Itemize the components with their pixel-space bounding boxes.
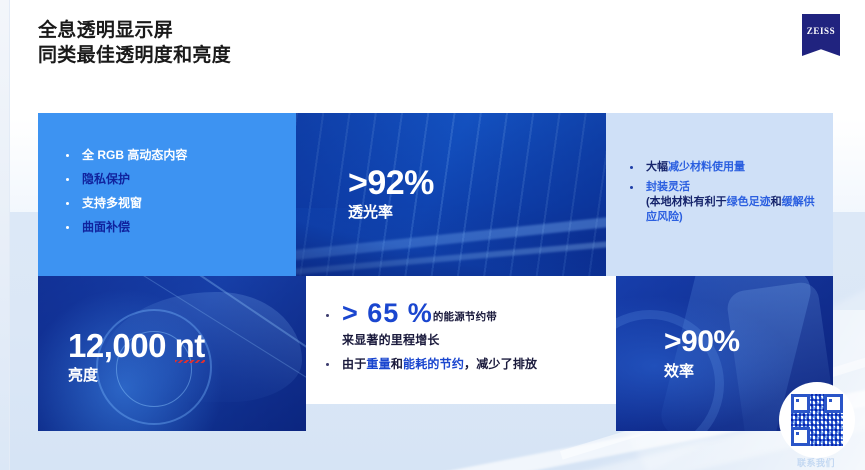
panel-brightness: 12,000 nt 亮度 <box>38 276 306 431</box>
list-item: 全 RGB 高动态内容 <box>64 147 187 163</box>
material-b2-note-b: 绿色足迹 <box>727 196 771 208</box>
qr-finder-icon <box>791 394 810 413</box>
energy-l3-c: 和 <box>391 357 403 371</box>
stat-value-number: 12,000 <box>68 327 175 364</box>
title-line-1: 全息透明显示屏 <box>38 18 231 43</box>
stat-transmission: >92% 透光率 <box>348 165 434 223</box>
energy-bullet-1: > 65 %的能源节约带 来显著的里程增长 <box>320 298 602 348</box>
energy-big-suffix: 的能源节约带 <box>433 311 497 323</box>
list-item: 支持多视窗 <box>64 195 187 211</box>
stat-efficiency: >90% 效率 <box>664 324 740 382</box>
panel-transmission: >92% 透光率 <box>296 113 606 276</box>
material-b1-blue: 减少材料使用量 <box>668 161 745 173</box>
features-bullet-list: 全 RGB 高动态内容 隐私保护 支持多视窗 曲面补偿 <box>64 147 187 243</box>
energy-big-value: > 65 % <box>342 298 433 329</box>
zeiss-logo-shape: ZEISS <box>802 14 840 56</box>
energy-line-2: 来显著的里程增长 <box>342 331 602 348</box>
qr-code-badge[interactable] <box>779 382 855 458</box>
photo-streak <box>296 208 606 262</box>
energy-bullet-2: 由于重量和能耗的节约，减少了排放 <box>320 355 602 372</box>
slide: 全息透明显示屏 同类最佳透明度和亮度 ZEISS 全 RGB 高动态内容 隐私保… <box>0 0 865 470</box>
stat-label: 效率 <box>664 362 740 382</box>
material-b2-note-a: (本地材料有利于 <box>646 196 727 208</box>
list-item: 封装灵活 (本地材料有利于绿色足迹和缓解供应风险) <box>628 180 823 225</box>
photo-streak <box>296 232 606 276</box>
list-item: 大幅减少材料使用量 <box>628 160 823 175</box>
panel-material: 大幅减少材料使用量 封装灵活 (本地材料有利于绿色足迹和缓解供应风险) <box>606 113 833 276</box>
list-item: 隐私保护 <box>64 171 187 187</box>
stat-value: 12,000 nt <box>68 328 205 364</box>
stat-label: 透光率 <box>348 203 434 223</box>
page-title: 全息透明显示屏 同类最佳透明度和亮度 <box>38 18 231 68</box>
energy-l3-d: 能耗的节约 <box>403 357 464 371</box>
material-b2-title: 封装灵活 <box>646 181 690 193</box>
stat-value-unit: nt <box>175 327 205 364</box>
qr-finder-icon <box>791 427 810 446</box>
energy-l3-a: 由于 <box>342 357 366 371</box>
background-left-strip <box>0 0 10 470</box>
qr-code-label: 联系我们 <box>781 456 851 469</box>
material-b2-note-c: 和 <box>771 196 782 208</box>
title-line-2: 同类最佳透明度和亮度 <box>38 43 231 68</box>
stat-brightness: 12,000 nt 亮度 <box>68 328 205 386</box>
material-b1-dark: 大幅 <box>646 161 668 173</box>
panel-energy: > 65 %的能源节约带 来显著的里程增长 由于重量和能耗的节约，减少了排放 <box>306 276 616 404</box>
energy-line-3: 由于重量和能耗的节约，减少了排放 <box>342 355 602 372</box>
bridge-photo-background <box>296 113 606 276</box>
zeiss-logo: ZEISS <box>802 14 840 56</box>
stat-value: >92% <box>348 165 434 201</box>
panel-features: 全 RGB 高动态内容 隐私保护 支持多视窗 曲面补偿 <box>38 113 296 276</box>
qr-finder-icon <box>824 394 843 413</box>
energy-l3-e: ，减少了排放 <box>464 357 537 371</box>
energy-content: > 65 %的能源节约带 来显著的里程增长 由于重量和能耗的节约，减少了排放 <box>306 276 616 372</box>
content-grid: 全 RGB 高动态内容 隐私保护 支持多视窗 曲面补偿 >92% 透光率 大幅减… <box>38 113 833 431</box>
stat-label: 亮度 <box>68 366 205 386</box>
stat-value: >90% <box>664 324 740 360</box>
list-item: 曲面补偿 <box>64 219 187 235</box>
zeiss-logo-text: ZEISS <box>807 26 836 36</box>
material-bullet-list: 大幅减少材料使用量 封装灵活 (本地材料有利于绿色足迹和缓解供应风险) <box>628 160 823 230</box>
qr-code-icon[interactable] <box>791 394 843 446</box>
energy-l3-b: 重量 <box>366 357 390 371</box>
